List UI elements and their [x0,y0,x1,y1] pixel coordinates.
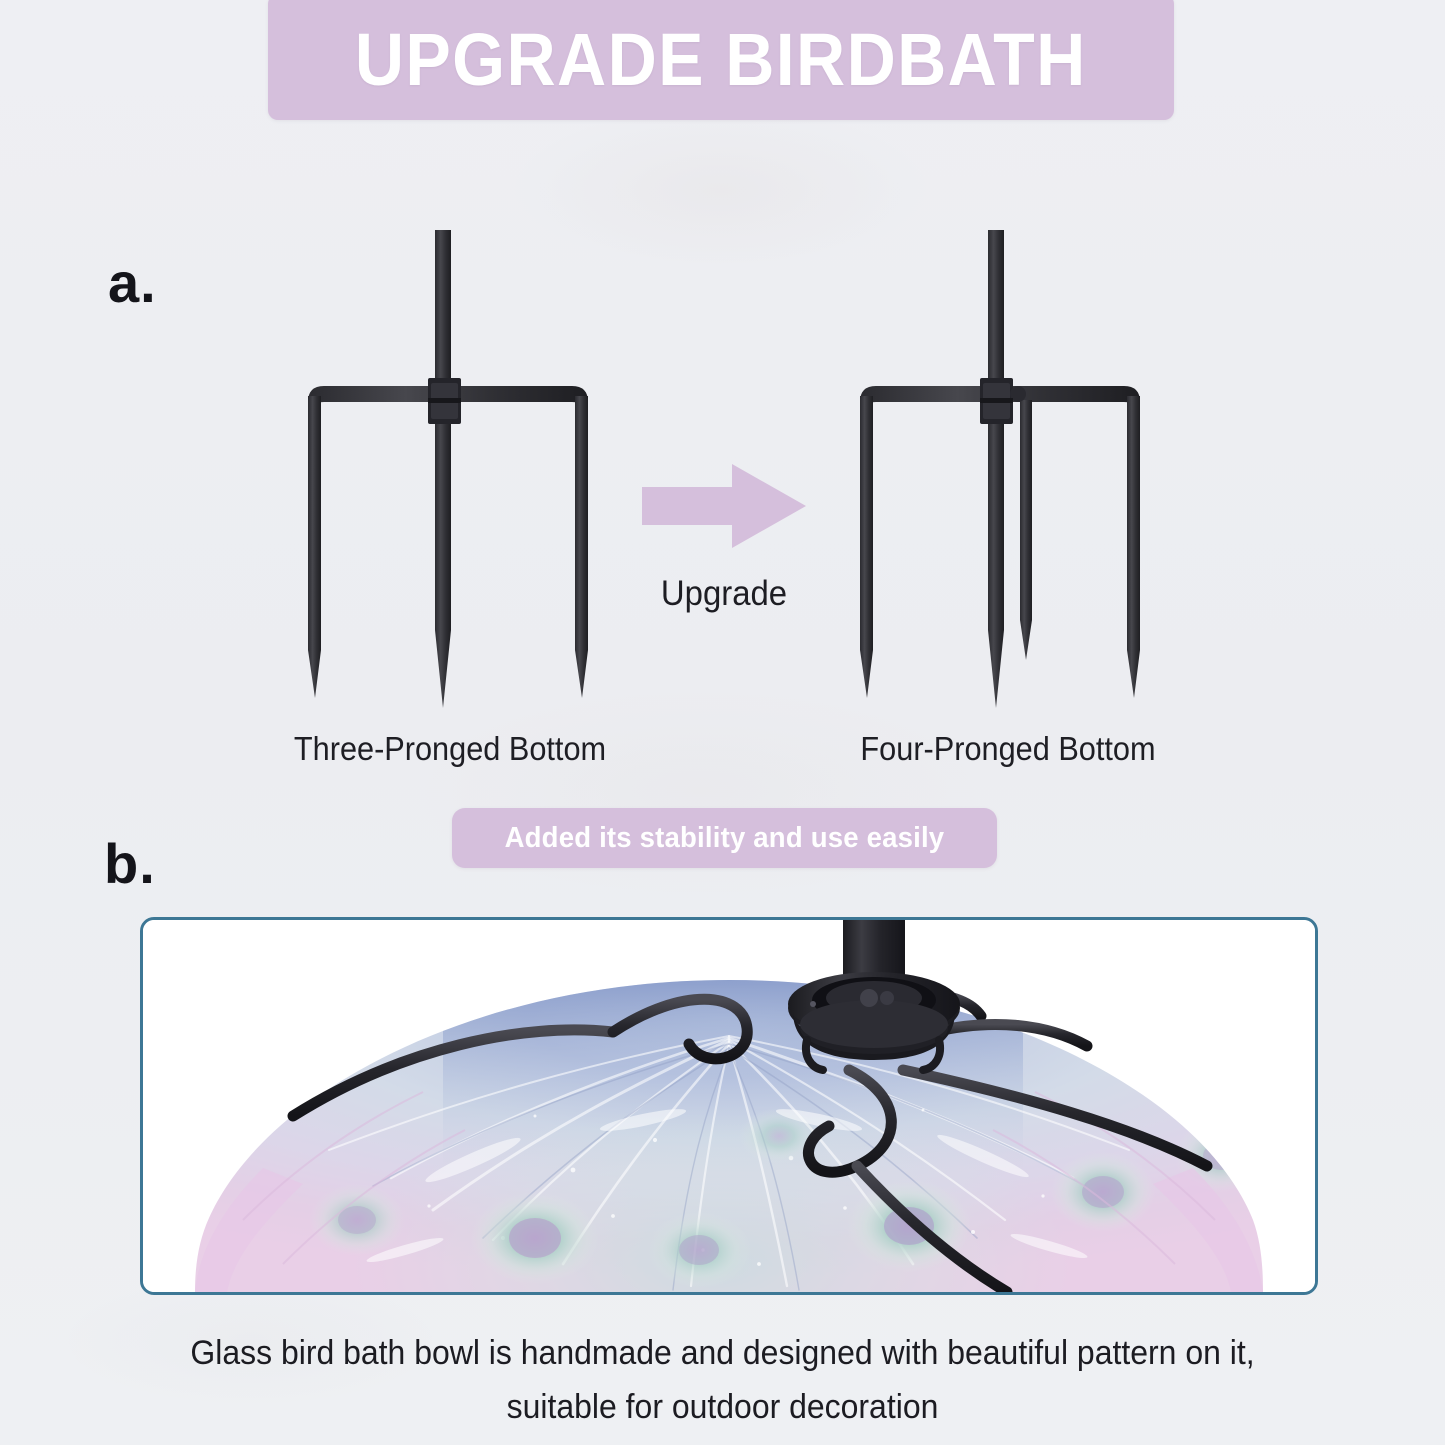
three-prong-stake-icon [280,230,620,720]
three-prong-label: Three-Pronged Bottom [292,730,608,768]
right-arrow-icon [634,460,814,552]
stability-badge-text: Added its stability and use easily [505,822,945,855]
birdbath-bowl-photo [143,920,1315,1292]
page-title: UPGRADE BIRDBATH [355,17,1087,97]
four-prong-label: Four-Pronged Bottom [850,730,1166,768]
stability-badge: Added its stability and use easily [452,808,997,868]
section-marker-b: b. [104,836,156,892]
photo-caption: Glass bird bath bowl is handmade and des… [43,1326,1401,1435]
upgrade-arrow-block: Upgrade [634,460,814,614]
photo-caption-line-2: suitable for outdoor decoration [43,1380,1401,1434]
photo-caption-line-1: Glass bird bath bowl is handmade and des… [43,1326,1401,1380]
birdbath-photo-frame [140,917,1318,1295]
title-banner: UPGRADE BIRDBATH [268,0,1174,120]
upgrade-label: Upgrade [639,574,808,614]
four-prong-stake-icon [838,230,1178,720]
